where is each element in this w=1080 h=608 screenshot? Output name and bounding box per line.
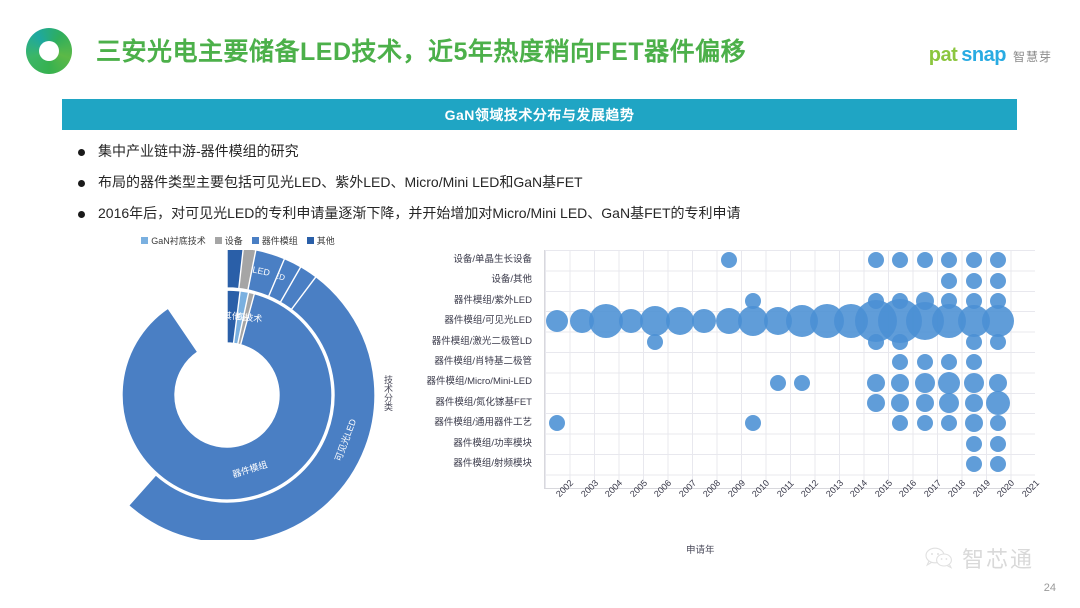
bubble-point[interactable] bbox=[647, 334, 663, 350]
list-item: 布局的器件类型主要包括可见光LED、紫外LED、Micro/Mini LED和G… bbox=[78, 174, 1028, 191]
brand-logo: pat snap 智慧芽 bbox=[929, 44, 1052, 67]
bullet-list: 集中产业链中游-器件模组的研究 布局的器件类型主要包括可见光LED、紫外LED、… bbox=[78, 143, 1028, 235]
bubble-point[interactable] bbox=[891, 394, 909, 412]
y-axis-tick-1: 设备/其他 bbox=[396, 270, 538, 290]
bubble-point[interactable] bbox=[549, 415, 565, 431]
page-title: 三安光电主要储备LED技术，近5年热度稍向FET器件偏移 bbox=[96, 32, 746, 68]
brand-pat-text: pat bbox=[929, 44, 958, 67]
sunburst-chart: GaN衬底技术设备器件模组其他 可见光LED氮化镓基FETMico/Mini L… bbox=[62, 232, 392, 542]
bubble-point[interactable] bbox=[892, 415, 908, 431]
x-axis-title: 申请年 bbox=[686, 542, 715, 556]
bubble-point[interactable] bbox=[990, 252, 1006, 268]
bubble-point[interactable] bbox=[770, 375, 786, 391]
y-axis-tick-8: 器件模组/通用器件工艺 bbox=[396, 413, 538, 433]
bubble-point[interactable] bbox=[745, 415, 761, 431]
bubble-point[interactable] bbox=[986, 391, 1010, 415]
y-axis-tick-0: 设备/单晶生长设备 bbox=[396, 250, 538, 270]
bullet-dot-icon bbox=[78, 149, 85, 156]
legend-item-3: 其他 bbox=[307, 234, 335, 247]
bubble-point[interactable] bbox=[990, 436, 1006, 452]
legend-label: 器件模组 bbox=[262, 234, 298, 247]
bubble-point[interactable] bbox=[966, 334, 982, 350]
bubble-point[interactable] bbox=[892, 354, 908, 370]
legend-item-1: 设备 bbox=[215, 234, 243, 247]
bubble-point[interactable] bbox=[989, 374, 1007, 392]
bubble-point[interactable] bbox=[964, 373, 984, 393]
bubble-point[interactable] bbox=[867, 374, 885, 392]
bubble-point[interactable] bbox=[965, 394, 983, 412]
bubble-point[interactable] bbox=[965, 414, 983, 432]
watermark-text: 智芯通 bbox=[962, 542, 1034, 574]
bubble-point[interactable] bbox=[916, 394, 934, 412]
sunburst-svg: 可见光LED氮化镓基FETMico/Mini LED紫外LED器件模组设备GaN… bbox=[62, 250, 392, 540]
bullet-text: 布局的器件类型主要包括可见光LED、紫外LED、Micro/Mini LED和G… bbox=[98, 174, 583, 191]
page-header: 三安光电主要储备LED技术，近5年热度稍向FET器件偏移 pat snap 智慧… bbox=[0, 0, 1080, 90]
legend-swatch bbox=[215, 237, 222, 244]
bubble-point[interactable] bbox=[990, 334, 1006, 350]
legend-swatch bbox=[252, 237, 259, 244]
y-axis-tick-4: 器件模组/激光二极管LD bbox=[396, 332, 538, 352]
bubble-point[interactable] bbox=[990, 273, 1006, 289]
legend-label: 其他 bbox=[317, 234, 335, 247]
brand-cn-text: 智慧芽 bbox=[1013, 48, 1052, 65]
bullet-text: 2016年后，对可见光LED的专利申请量逐渐下降，并开始增加对Micro/Min… bbox=[98, 205, 741, 222]
bubble-point[interactable] bbox=[990, 456, 1006, 472]
bubble-point[interactable] bbox=[941, 252, 957, 268]
bubble-point[interactable] bbox=[941, 273, 957, 289]
bubble-point[interactable] bbox=[666, 307, 694, 335]
bubble-point[interactable] bbox=[966, 252, 982, 268]
bubble-point[interactable] bbox=[794, 375, 810, 391]
bubble-point[interactable] bbox=[990, 415, 1006, 431]
bubble-point[interactable] bbox=[867, 394, 885, 412]
bubble-point[interactable] bbox=[868, 334, 884, 350]
y-axis-tick-9: 器件模组/功率模块 bbox=[396, 434, 538, 454]
y-axis-labels: 设备/单晶生长设备设备/其他器件模组/紫外LED器件模组/可见光LED器件模组/… bbox=[396, 250, 538, 474]
y-axis-tick-5: 器件模组/肖特基二极管 bbox=[396, 352, 538, 372]
legend-swatch bbox=[307, 237, 314, 244]
wechat-watermark: 智芯通 bbox=[924, 542, 1034, 574]
bubble-point[interactable] bbox=[941, 354, 957, 370]
bullet-text: 集中产业链中游-器件模组的研究 bbox=[98, 143, 299, 160]
list-item: 集中产业链中游-器件模组的研究 bbox=[78, 143, 1028, 160]
legend-label: GaN衬底技术 bbox=[151, 234, 206, 247]
legend-item-0: GaN衬底技术 bbox=[141, 234, 206, 247]
bubble-point[interactable] bbox=[917, 252, 933, 268]
y-axis-tick-10: 器件模组/射频模块 bbox=[396, 454, 538, 474]
bubble-point[interactable] bbox=[721, 252, 737, 268]
chart-legend: GaN衬底技术设备器件模组其他 bbox=[98, 232, 378, 248]
brand-snap-text: snap bbox=[961, 44, 1006, 67]
section-banner: GaN领域技术分布与发展趋势 bbox=[62, 99, 1017, 130]
slice-label: 其他 bbox=[223, 309, 242, 321]
bubble-point[interactable] bbox=[891, 374, 909, 392]
bubble-chart: 技术分类 设备/单晶生长设备设备/其他器件模组/紫外LED器件模组/可见光LED… bbox=[386, 250, 1046, 570]
bubble-point[interactable] bbox=[966, 273, 982, 289]
y-axis-tick-7: 器件模组/氮化镓基FET bbox=[396, 393, 538, 413]
bubble-point[interactable] bbox=[892, 334, 908, 350]
bullet-dot-icon bbox=[78, 211, 85, 218]
bubble-point[interactable] bbox=[917, 415, 933, 431]
bubble-point[interactable] bbox=[917, 354, 933, 370]
bubble-point[interactable] bbox=[941, 415, 957, 431]
bubble-point[interactable] bbox=[868, 252, 884, 268]
section-banner-label: GaN领域技术分布与发展趋势 bbox=[445, 105, 635, 125]
bullet-dot-icon bbox=[78, 180, 85, 187]
bubble-point[interactable] bbox=[619, 309, 643, 333]
bubble-point[interactable] bbox=[938, 372, 960, 394]
plot-area bbox=[544, 250, 1035, 489]
bubble-point[interactable] bbox=[692, 309, 716, 333]
bubble-point[interactable] bbox=[939, 393, 959, 413]
bubble-point[interactable] bbox=[546, 310, 568, 332]
bubble-point[interactable] bbox=[982, 305, 1014, 337]
legend-swatch bbox=[141, 237, 148, 244]
legend-label: 设备 bbox=[225, 234, 243, 247]
y-axis-tick-3: 器件模组/可见光LED bbox=[396, 311, 538, 331]
bubble-point[interactable] bbox=[892, 252, 908, 268]
bubble-point[interactable] bbox=[966, 456, 982, 472]
bubble-point[interactable] bbox=[966, 436, 982, 452]
page-number: 24 bbox=[1044, 582, 1056, 594]
y-axis-title: 技术分类 bbox=[382, 375, 395, 411]
bubble-point[interactable] bbox=[915, 373, 935, 393]
patsnap-ring-icon bbox=[26, 28, 72, 74]
legend-item-2: 器件模组 bbox=[252, 234, 298, 247]
wechat-icon bbox=[924, 546, 954, 570]
y-axis-tick-2: 器件模组/紫外LED bbox=[396, 291, 538, 311]
bubble-point[interactable] bbox=[966, 354, 982, 370]
x-axis-labels: 2002200320042005200620072008200920102011… bbox=[544, 490, 1034, 538]
list-item: 2016年后，对可见光LED的专利申请量逐渐下降，并开始增加对Micro/Min… bbox=[78, 205, 1028, 222]
y-axis-tick-6: 器件模组/Micro/Mini-LED bbox=[396, 372, 538, 392]
